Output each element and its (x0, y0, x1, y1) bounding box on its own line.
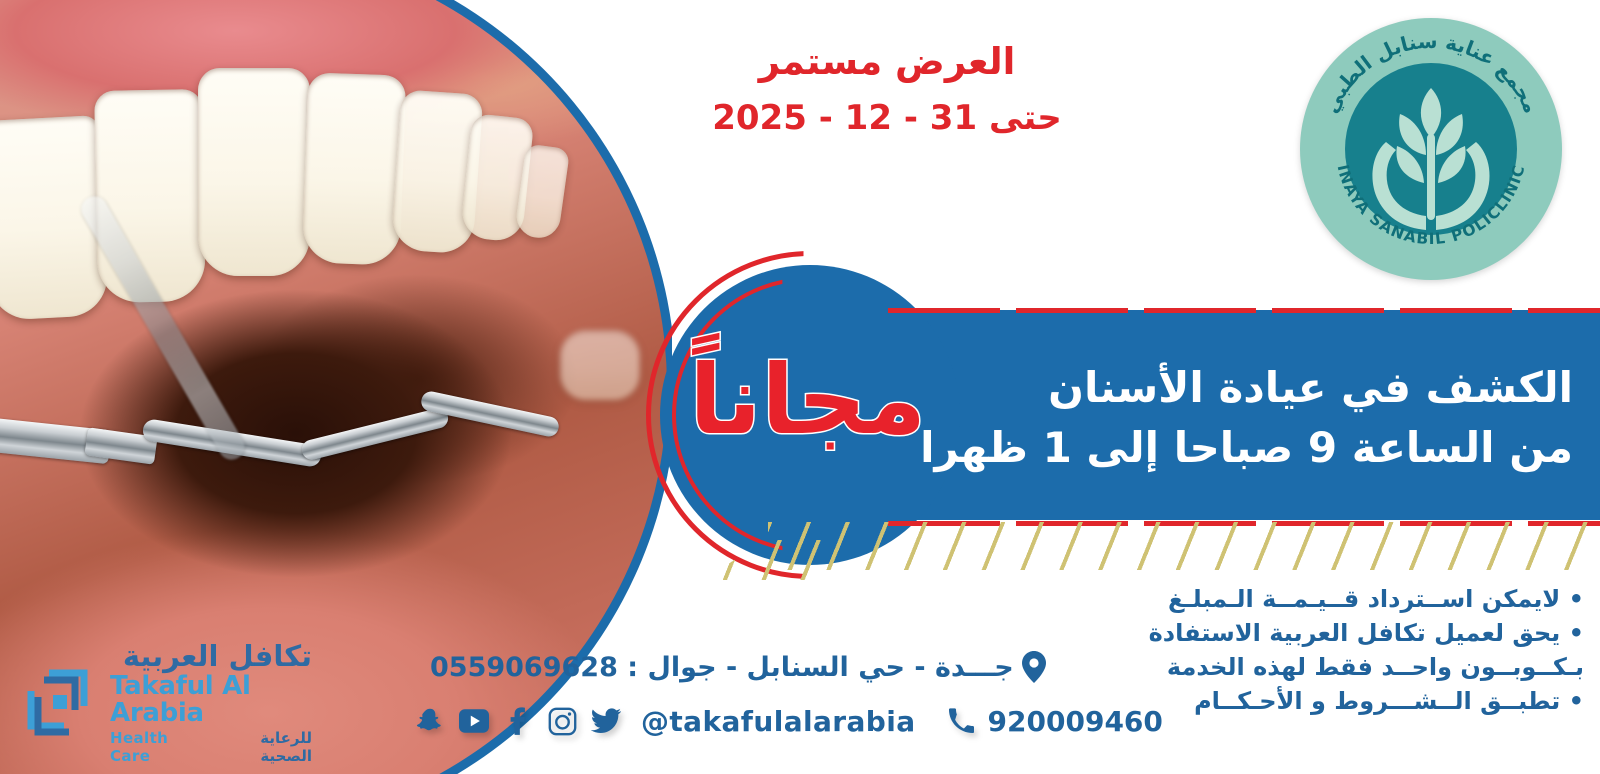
clinic-logo-svg: INAYA SANABIL POLICLINIC مجمع عناية سناب… (1300, 18, 1562, 280)
promo-text: العرض مستمر حتى 31 - 12 - 2025 (677, 40, 1097, 139)
social-handle[interactable]: @takafulalarabia (641, 705, 916, 738)
twitter-icon[interactable] (591, 706, 621, 736)
takaful-english-tagline: Health Care (110, 729, 205, 765)
tooth (560, 330, 640, 400)
terms-item: • لايمكن اســترداد قــيـمــة الـمبلـغ (1124, 582, 1584, 616)
location-pin-icon (1022, 651, 1046, 683)
youtube-icon[interactable] (459, 706, 489, 736)
facebook-icon[interactable] (503, 706, 533, 736)
headline-line-1: الكشف في عيادة الأسنان (900, 364, 1573, 411)
gold-hatch-decor (768, 522, 1600, 570)
social-row: @takafulalarabia 920009460 (415, 698, 1085, 744)
headline-line-2: من الساعة 9 صباحا إلى 1 ظهرا (900, 424, 1573, 471)
gold-hatch-decor-left (700, 540, 830, 580)
headline-text: الكشف في عيادة الأسنان من الساعة 9 صباحا… (900, 330, 1585, 505)
probe-bend (300, 406, 450, 462)
terms-item: • تطبــق الــشـــروط و الأحـكــام (1124, 684, 1584, 718)
terms-list: • لايمكن اســترداد قــيـمــة الـمبلـغ • … (1124, 582, 1584, 718)
takaful-al-arabia-logo: تكافل العربية Takaful Al Arabia Health C… (22, 650, 312, 756)
ad-banner: العرض مستمر حتى 31 - 12 - 2025 INAYA SAN… (0, 0, 1600, 774)
takaful-logo-words: تكافل العربية Takaful Al Arabia Health C… (110, 641, 312, 764)
address-text: جـــدة - حي السنابل - جوال : 0559069628 (430, 652, 1014, 683)
terms-item: بـكــوبــون واحــد فقط لهذه الخدمة (1124, 650, 1584, 684)
promo-line-1: العرض مستمر (677, 40, 1097, 84)
instagram-icon[interactable] (547, 706, 577, 736)
tooth (198, 68, 310, 276)
takaful-english-name: Takaful Al Arabia (110, 673, 312, 728)
phone-icon (948, 708, 974, 734)
takaful-logo-mark (22, 664, 100, 742)
tooth (302, 72, 407, 265)
tooth (94, 89, 206, 303)
free-badge: مجاناً (706, 352, 926, 448)
terms-item: • يحق لعميل تكافل العربية الاستفادة (1124, 616, 1584, 650)
takaful-arabic-tagline: للرعاية الصحية (213, 729, 312, 765)
promo-line-2: حتى 31 - 12 - 2025 (677, 98, 1097, 139)
snapchat-icon[interactable] (415, 706, 445, 736)
address-row: جـــدة - حي السنابل - جوال : 0559069628 (430, 645, 1080, 689)
hands-plant-icon (1372, 88, 1489, 230)
hotline-number[interactable]: 920009460 (988, 705, 1163, 738)
takaful-arabic-name: تكافل العربية (110, 641, 312, 671)
clinic-logo: INAYA SANABIL POLICLINIC مجمع عناية سناب… (1300, 18, 1562, 280)
takaful-tagline-row: Health Care للرعاية الصحية (110, 729, 312, 765)
red-dashed-line-top (888, 308, 1600, 313)
